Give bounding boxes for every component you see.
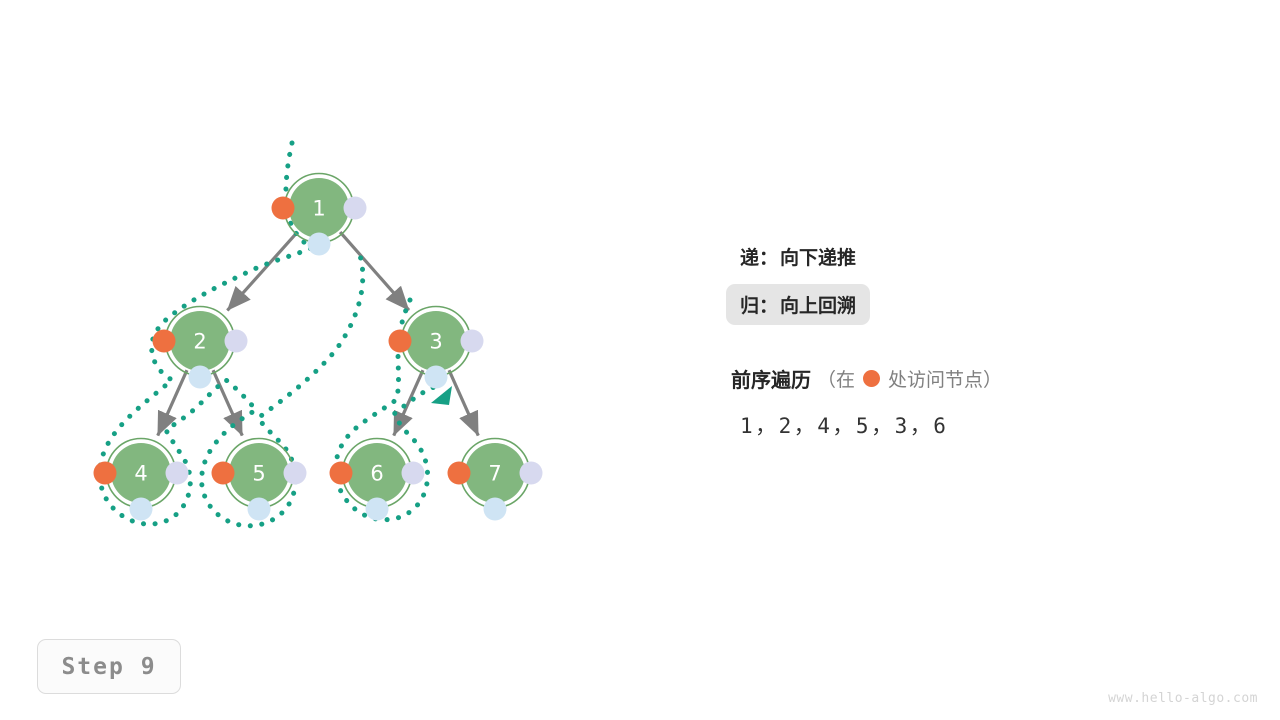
traversal-order-heading: 前序遍历 （在 处访问节点） xyxy=(731,362,1251,394)
node-visit-dot xyxy=(212,462,235,485)
node-bottom-port-dot xyxy=(484,498,507,521)
node-right-port-dot xyxy=(225,330,248,353)
current-position-arrow-icon xyxy=(431,386,452,405)
traversal-note-open: （在 xyxy=(817,365,855,392)
legend-key-backtrack: 归： xyxy=(740,291,778,318)
tree-node-label: 4 xyxy=(134,462,147,486)
legend-row-backtrack: 归： 向上回溯 xyxy=(726,284,870,325)
node-right-port-dot xyxy=(344,197,367,220)
node-right-port-dot xyxy=(166,462,189,485)
recursion-path-dotted xyxy=(100,143,442,526)
tree-edge xyxy=(449,370,478,435)
node-right-port-dot xyxy=(520,462,543,485)
watermark: www.hello-algo.com xyxy=(1108,691,1258,706)
node-right-port-dot xyxy=(284,462,307,485)
tree-node-label: 5 xyxy=(252,462,265,486)
node-bottom-port-dot xyxy=(248,498,271,521)
visit-marker-icon xyxy=(863,370,880,387)
tree-edge xyxy=(213,370,242,435)
node-bottom-port-dot xyxy=(308,233,331,256)
tree-node-label: 7 xyxy=(488,462,501,486)
node-bottom-port-dot xyxy=(189,366,212,389)
legend-key-recurse: 递： xyxy=(740,243,778,270)
tree-node-6: 6 xyxy=(330,439,425,521)
tree-node-1: 1 xyxy=(272,174,367,256)
node-bottom-port-dot xyxy=(130,498,153,521)
legend-row-recurse: 递： 向下递推 xyxy=(726,236,870,277)
traversal-order-title: 前序遍历 xyxy=(731,364,811,393)
tree-node-2: 2 xyxy=(153,307,248,389)
current-position-arrow xyxy=(431,386,452,405)
node-bottom-port-dot xyxy=(425,366,448,389)
tree-edge xyxy=(227,232,297,311)
tree-node-3: 3 xyxy=(389,307,484,389)
step-badge-label: Step 9 xyxy=(61,654,156,680)
tree-edge xyxy=(158,370,187,435)
tree-edge xyxy=(394,370,423,435)
node-visit-dot xyxy=(272,197,295,220)
tree-node-7: 7 xyxy=(448,439,543,521)
node-visit-dot xyxy=(389,330,412,353)
tree-edge xyxy=(340,232,409,310)
tree-node-5: 5 xyxy=(212,439,307,521)
diagram-canvas: 1234567 递： 向下递推 归： 向上回溯 前序遍历 （在 处访问节点） 1… xyxy=(0,0,1280,720)
tree-node-label: 3 xyxy=(429,330,442,354)
tree-node-label: 2 xyxy=(193,330,206,354)
node-visit-dot xyxy=(94,462,117,485)
legend: 递： 向下递推 归： 向上回溯 xyxy=(726,236,1226,332)
node-visit-dot xyxy=(330,462,353,485)
node-right-port-dot xyxy=(461,330,484,353)
binary-tree-diagram: 1234567 xyxy=(0,0,1280,720)
tree-node-label: 1 xyxy=(312,197,325,221)
tree-nodes: 1234567 xyxy=(94,174,543,521)
legend-value-recurse: 向下递推 xyxy=(780,243,856,270)
recursion-path xyxy=(100,143,442,526)
tree-node-label: 6 xyxy=(370,462,383,486)
step-badge: Step 9 xyxy=(37,639,181,694)
node-right-port-dot xyxy=(402,462,425,485)
tree-node-4: 4 xyxy=(94,439,189,521)
traversal-order-sequence: 1，2，4，5，3，6 xyxy=(740,410,1251,440)
tree-edges xyxy=(158,232,479,436)
legend-value-backtrack: 向上回溯 xyxy=(780,291,856,318)
node-bottom-port-dot xyxy=(366,498,389,521)
traversal-order-block: 前序遍历 （在 处访问节点） 1，2，4，5，3，6 xyxy=(731,362,1251,440)
node-visit-dot xyxy=(448,462,471,485)
traversal-note-text: 处访问节点） xyxy=(888,365,1002,392)
node-visit-dot xyxy=(153,330,176,353)
